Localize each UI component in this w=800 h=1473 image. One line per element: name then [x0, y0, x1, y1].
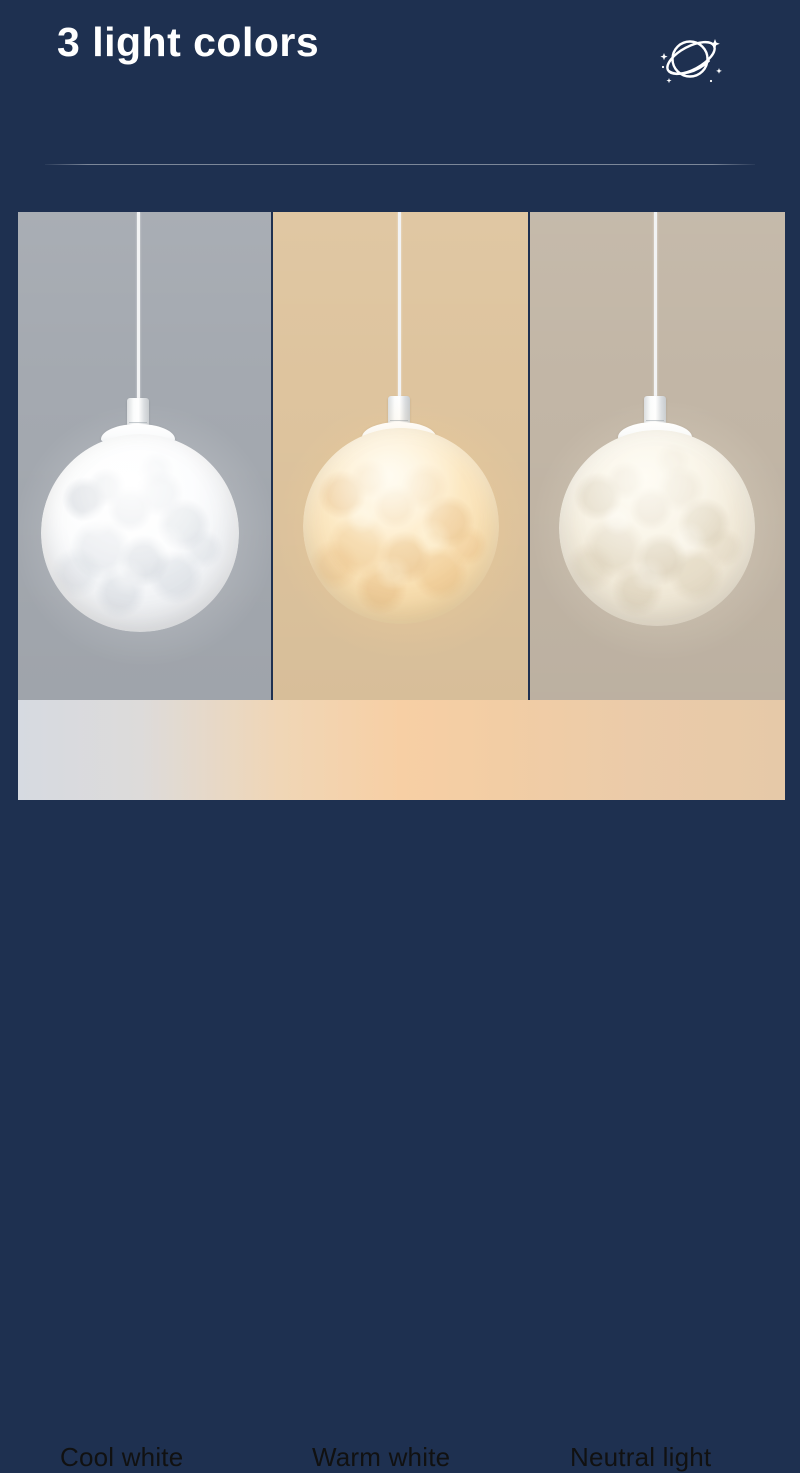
label-warm-white: Warm white [312, 1442, 450, 1473]
lamp-cord [398, 212, 401, 402]
moon-lamp-cool-white [41, 434, 239, 632]
header: 3 light colors [0, 0, 800, 165]
page-title: 3 light colors [57, 18, 319, 67]
product-image: 3 light colors [0, 0, 800, 800]
moon-lamp-warm-white [303, 428, 499, 624]
panel-warm-white [273, 212, 528, 704]
panel-neutral-light [530, 212, 785, 704]
planet-saturn-icon [655, 23, 727, 95]
light-color-panels [0, 212, 800, 704]
lamp-cord [137, 212, 140, 404]
moon-rim [559, 430, 755, 626]
label-group: Cool white Warm white Neutral light [0, 700, 800, 800]
header-divider [45, 164, 755, 165]
lamp-cord [654, 212, 657, 402]
label-cool-white: Cool white [60, 1442, 183, 1473]
moon-rim [41, 434, 239, 632]
label-neutral-light: Neutral light [570, 1442, 711, 1473]
panel-cool-white [18, 212, 271, 704]
moon-lamp-neutral-light [559, 430, 755, 626]
moon-rim [303, 428, 499, 624]
